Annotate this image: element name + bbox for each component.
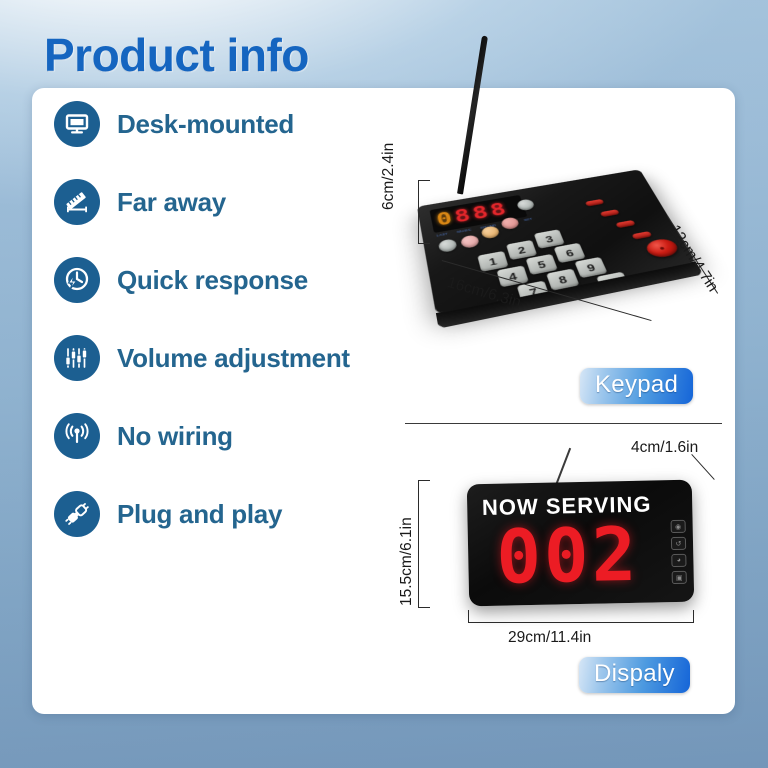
display-depth-dimension: 4cm/1.6in <box>631 439 698 457</box>
plug-connector-icon <box>54 491 100 537</box>
display-height-dim-tick-top <box>418 480 430 481</box>
feature-item-desk-mounted: Desk-mounted <box>54 85 404 163</box>
volume-icon[interactable]: ◕ <box>671 554 686 567</box>
section-divider <box>405 423 722 424</box>
keypad-screen-label: SET <box>523 217 532 222</box>
display-number: 002 <box>468 517 695 596</box>
display-device: NOW SERVING 002 ◉ ↺ ◕ ▣ <box>467 480 695 607</box>
wireless-signal-icon <box>54 413 100 459</box>
refresh-icon[interactable]: ↺ <box>671 537 686 550</box>
feature-item-quick-response: Quick response <box>54 241 404 319</box>
display-height-dim-line <box>418 480 419 608</box>
ruler-icon <box>54 179 100 225</box>
monitor-icon <box>54 101 100 147</box>
page-title: Product info <box>44 28 309 82</box>
feature-label: Quick response <box>117 265 308 296</box>
keypad-height-dimension: 6cm/2.4in <box>380 143 398 210</box>
clock-bolt-icon <box>54 257 100 303</box>
keypad-key-6[interactable]: 6 <box>554 243 586 263</box>
keypad-red-button-3[interactable] <box>615 220 635 228</box>
keypad-function-button-gray-1[interactable] <box>438 238 458 253</box>
display-side-buttons: ◉ ↺ ◕ ▣ <box>671 520 687 584</box>
keypad-red-button-1[interactable] <box>585 199 605 207</box>
keypad-antenna <box>457 36 488 195</box>
keypad-key-1[interactable]: 1 <box>477 251 508 272</box>
keypad-key-5[interactable]: 5 <box>526 254 558 275</box>
feature-item-no-wiring: No wiring <box>54 397 404 475</box>
keypad-height-dim-tick-top <box>418 180 430 181</box>
keypad-badge: Keypad <box>580 368 693 404</box>
keypad-key-2[interactable]: 2 <box>506 240 537 260</box>
feature-item-volume-adjustment: Volume adjustment <box>54 319 404 397</box>
sliders-icon <box>54 335 100 381</box>
keypad-screen-label: LAST <box>436 232 448 237</box>
keypad-function-button-amber[interactable] <box>480 225 500 239</box>
display-width-dim-tick-left <box>468 610 469 623</box>
keypad-key-9[interactable]: 9 <box>574 257 607 278</box>
feature-label: Volume adjustment <box>117 343 350 374</box>
feature-label: No wiring <box>117 421 233 452</box>
keypad-digit: 8 <box>453 207 472 226</box>
keypad-function-button-pink[interactable] <box>460 234 480 249</box>
keypad-digit: 8 <box>471 204 490 223</box>
keypad-red-button-2[interactable] <box>600 209 620 217</box>
power-icon[interactable]: ◉ <box>671 520 686 533</box>
feature-label: Desk-mounted <box>117 109 294 140</box>
keypad-height-dim-tick-bottom <box>418 243 430 244</box>
keypad-key-3[interactable]: 3 <box>534 229 565 248</box>
feature-label: Plug and play <box>117 499 282 530</box>
display-width-dim-tick-right <box>693 610 694 623</box>
display-width-dimension: 29cm/11.4in <box>508 629 591 647</box>
feature-item-plug-and-play: Plug and play <box>54 475 404 553</box>
display-badge: Dispaly <box>579 657 690 693</box>
keypad-digit: 0 <box>435 210 454 229</box>
feature-label: Far away <box>117 187 226 218</box>
mode-icon[interactable]: ▣ <box>672 571 687 584</box>
display-height-dim-tick-bottom <box>418 607 430 608</box>
display-width-dim-line <box>468 622 694 623</box>
keypad-digit: 8 <box>488 201 508 219</box>
display-height-dimension: 15.5cm/6.1in <box>398 517 416 606</box>
display-depth-dim-line <box>691 454 715 480</box>
keypad-red-button-4[interactable] <box>631 231 652 240</box>
keypad-product-figure: 0 8 8 8 LAST MUSIC SOUND TIME SET 1 2 3 … <box>404 30 734 420</box>
keypad-height-dim-line <box>418 180 419 244</box>
display-product-figure: NOW SERVING 002 ◉ ↺ ◕ ▣ 15.5cm/6.1in 29c… <box>404 432 734 702</box>
keypad-screen-label: MUSIC <box>457 228 472 234</box>
feature-item-far-away: Far away <box>54 163 404 241</box>
feature-list: Desk-mounted Far away <box>54 85 404 553</box>
